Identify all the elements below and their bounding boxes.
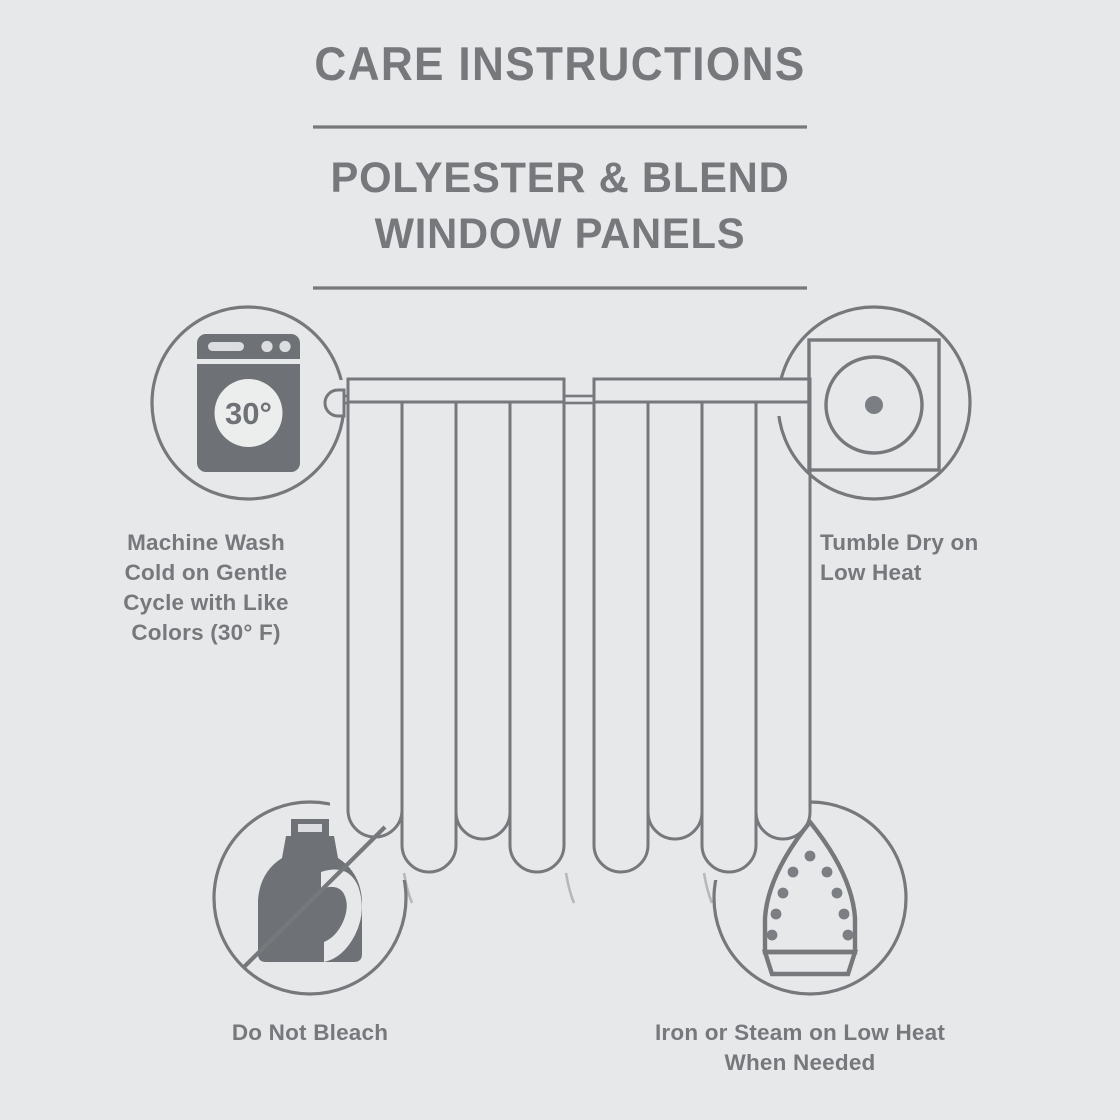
no-bleach-icon (243, 819, 385, 968)
washer-knob (261, 341, 272, 352)
steam-hole (839, 909, 850, 920)
curtain-pleat (648, 379, 702, 839)
bottle-cap-highlight (298, 824, 322, 832)
symbol-do-not-bleach (214, 802, 406, 994)
steam-hole (771, 909, 782, 920)
curtain-pleat (510, 379, 564, 872)
steam-hole (832, 888, 843, 899)
washer-panel-divider (197, 359, 300, 364)
steam-hole (767, 930, 778, 941)
washing-machine-icon: 30° (197, 334, 300, 472)
steam-hole (843, 930, 854, 941)
curtain-panel-right (594, 379, 810, 872)
curtain-pleat (594, 379, 648, 872)
infographic-artwork: 30° (0, 0, 1120, 1120)
hem-tick (566, 873, 574, 903)
curtain-pleat (756, 379, 810, 839)
washer-knob (279, 341, 290, 352)
iron-base (765, 952, 855, 974)
curtain-header-left (348, 379, 564, 402)
symbol-machine-wash: 30° (152, 307, 344, 499)
curtain-panel-left (348, 379, 564, 872)
symbol-ring (714, 802, 906, 994)
curtain-illustration (325, 379, 810, 903)
curtain-pleat (348, 379, 402, 837)
steam-hole (822, 867, 833, 878)
tumble-dry-low-icon (809, 340, 939, 470)
washer-detergent-slot (208, 342, 244, 351)
care-instructions-infographic: CARE INSTRUCTIONS POLYESTER & BLEND WIND… (0, 0, 1120, 1120)
symbol-iron-steam (714, 802, 906, 994)
washer-temperature-label: 30° (225, 396, 272, 431)
steam-hole (788, 867, 799, 878)
iron-steam-icon (765, 822, 855, 974)
iron-soleplate (765, 822, 855, 952)
dryer-heat-dot (865, 396, 883, 414)
curtain-pleat (702, 379, 756, 872)
curtain-hem-details (404, 873, 712, 903)
curtain-pleat (456, 379, 510, 839)
curtain-pleat (402, 379, 456, 872)
steam-hole (778, 888, 789, 899)
hem-tick (704, 873, 712, 903)
curtain-rod-finial-left (325, 390, 344, 416)
steam-hole (805, 851, 816, 862)
